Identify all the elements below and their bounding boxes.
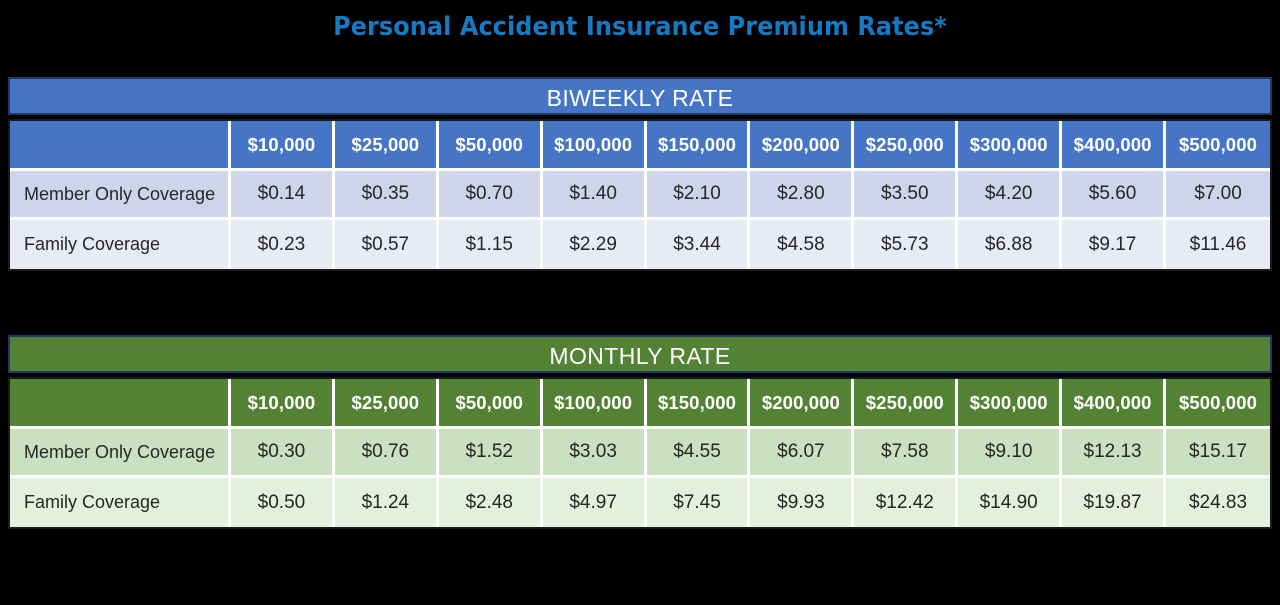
rate-cell: $3.03 — [543, 429, 647, 478]
rate-cell: $4.58 — [750, 220, 854, 269]
row-label: Member Only Coverage — [10, 429, 231, 478]
rate-cell: $0.76 — [335, 429, 439, 478]
column-header-cell: $10,000 — [231, 379, 335, 429]
column-header-cell: $25,000 — [335, 379, 439, 429]
column-header-cell: $25,000 — [335, 121, 439, 171]
column-header-cell: $200,000 — [750, 379, 854, 429]
column-header-cell: $400,000 — [1062, 121, 1166, 171]
column-header-cell: $500,000 — [1166, 379, 1270, 429]
rate-cell: $19.87 — [1062, 478, 1166, 527]
rate-cell: $7.00 — [1166, 171, 1270, 220]
row-label: Family Coverage — [10, 220, 231, 269]
rate-cell: $7.58 — [854, 429, 958, 478]
monthly-rate-band-title: MONTHLY RATE — [8, 335, 1272, 373]
column-header-cell: $50,000 — [439, 121, 543, 171]
column-header-cell: $10,000 — [231, 121, 335, 171]
rate-cell: $1.24 — [335, 478, 439, 527]
rate-cell: $2.48 — [439, 478, 543, 527]
column-header-cell: $500,000 — [1166, 121, 1270, 171]
rate-cell: $0.35 — [335, 171, 439, 220]
rate-cell: $0.50 — [231, 478, 335, 527]
column-header-cell: $100,000 — [543, 379, 647, 429]
rate-cell: $0.57 — [335, 220, 439, 269]
column-header-cell: $150,000 — [647, 121, 751, 171]
rate-cell: $6.88 — [958, 220, 1062, 269]
rate-cell: $2.29 — [543, 220, 647, 269]
table-row: Member Only Coverage $0.30 $0.76 $1.52 $… — [10, 429, 1270, 478]
rate-cell: $7.45 — [647, 478, 751, 527]
table-header-row: $10,000 $25,000 $50,000 $100,000 $150,00… — [10, 379, 1270, 429]
monthly-rate-table: $10,000 $25,000 $50,000 $100,000 $150,00… — [8, 377, 1272, 529]
rate-cell: $4.97 — [543, 478, 647, 527]
page-title: Personal Accident Insurance Premium Rate… — [51, 12, 1229, 42]
rate-cell: $1.40 — [543, 171, 647, 220]
column-header-cell: $250,000 — [854, 121, 958, 171]
rate-cell: $5.73 — [854, 220, 958, 269]
rate-cell: $4.55 — [647, 429, 751, 478]
rate-cell: $5.60 — [1062, 171, 1166, 220]
rate-cell: $2.10 — [647, 171, 751, 220]
table-row: Member Only Coverage $0.14 $0.35 $0.70 $… — [10, 171, 1270, 220]
rate-cell: $11.46 — [1166, 220, 1270, 269]
rate-cell: $6.07 — [750, 429, 854, 478]
rate-cell: $14.90 — [958, 478, 1062, 527]
rate-cell: $1.52 — [439, 429, 543, 478]
rate-cell: $3.44 — [647, 220, 751, 269]
rate-cell: $0.30 — [231, 429, 335, 478]
column-header-cell: $400,000 — [1062, 379, 1166, 429]
column-header-cell: $250,000 — [854, 379, 958, 429]
row-label: Member Only Coverage — [10, 171, 231, 220]
table-row: Family Coverage $0.50 $1.24 $2.48 $4.97 … — [10, 478, 1270, 527]
rate-cell: $0.14 — [231, 171, 335, 220]
biweekly-rate-band-title: BIWEEKLY RATE — [8, 77, 1272, 115]
monthly-rate-block: MONTHLY RATE $10,000 $25,000 $50,000 $10… — [8, 335, 1272, 529]
rate-cell: $9.17 — [1062, 220, 1166, 269]
rate-cell: $9.93 — [750, 478, 854, 527]
rate-cell: $0.70 — [439, 171, 543, 220]
rate-cell: $3.50 — [854, 171, 958, 220]
corner-header-cell — [10, 379, 231, 429]
rate-cell: $9.10 — [958, 429, 1062, 478]
column-header-cell: $50,000 — [439, 379, 543, 429]
rate-cell: $2.80 — [750, 171, 854, 220]
rate-cell: $24.83 — [1166, 478, 1270, 527]
column-header-cell: $100,000 — [543, 121, 647, 171]
biweekly-rate-block: BIWEEKLY RATE $10,000 $25,000 $50,000 $1… — [8, 77, 1272, 271]
rate-cell: $12.13 — [1062, 429, 1166, 478]
column-header-cell: $300,000 — [958, 121, 1062, 171]
column-header-cell: $300,000 — [958, 379, 1062, 429]
rate-cell: $4.20 — [958, 171, 1062, 220]
biweekly-rate-table: $10,000 $25,000 $50,000 $100,000 $150,00… — [8, 119, 1272, 271]
rate-cell: $1.15 — [439, 220, 543, 269]
corner-header-cell — [10, 121, 231, 171]
table-header-row: $10,000 $25,000 $50,000 $100,000 $150,00… — [10, 121, 1270, 171]
row-label: Family Coverage — [10, 478, 231, 527]
rate-cell: $0.23 — [231, 220, 335, 269]
rate-cell: $15.17 — [1166, 429, 1270, 478]
column-header-cell: $200,000 — [750, 121, 854, 171]
rate-cell: $12.42 — [854, 478, 958, 527]
table-row: Family Coverage $0.23 $0.57 $1.15 $2.29 … — [10, 220, 1270, 269]
column-header-cell: $150,000 — [647, 379, 751, 429]
